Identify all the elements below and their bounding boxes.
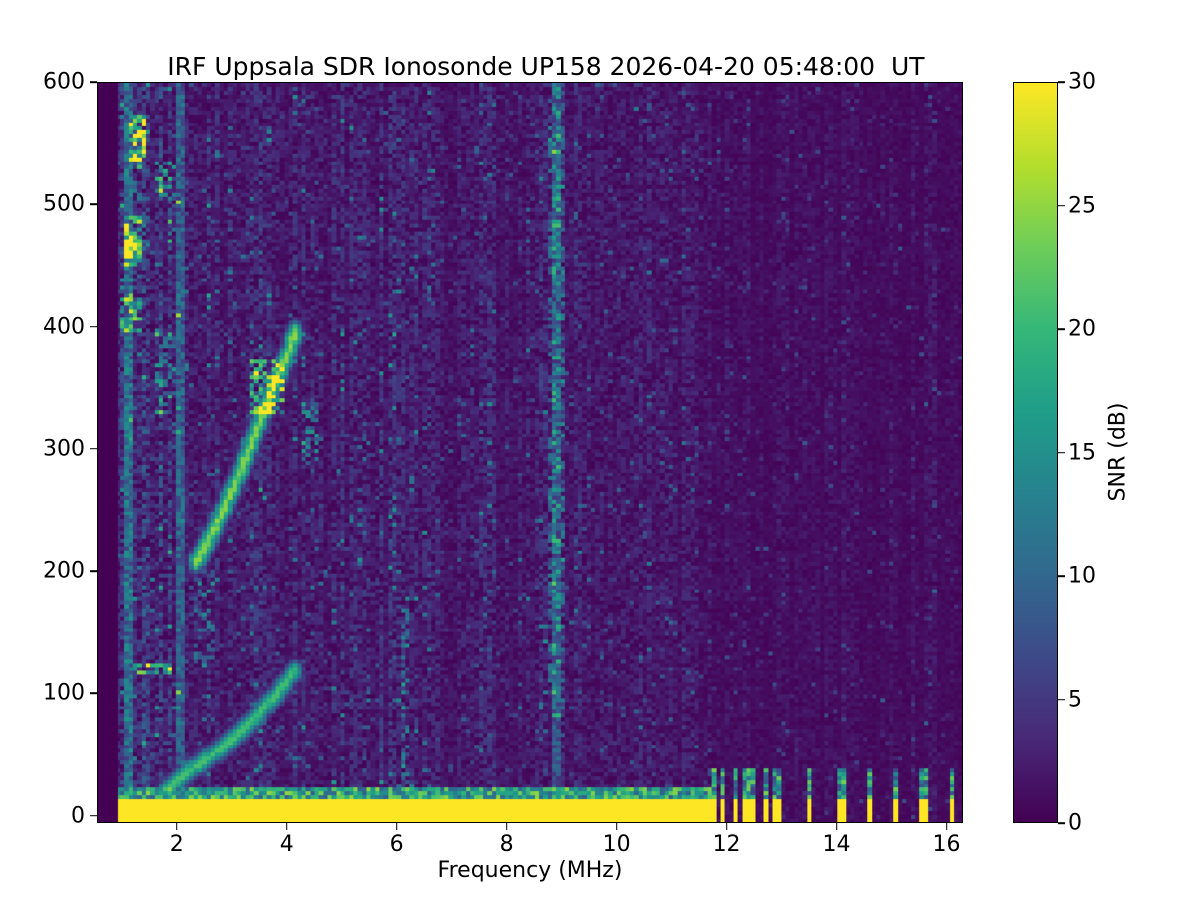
colorbar-tick-label: 5 [1068,687,1082,712]
colorbar-tick-mark [1058,328,1065,330]
y-tick-mark [90,326,97,328]
y-tick-label: 500 [5,192,85,217]
colorbar-gradient [1014,83,1057,822]
colorbar-tick-label: 10 [1068,564,1096,589]
y-tick-label: 200 [5,559,85,584]
y-tick-mark [90,448,97,450]
x-tick-label: 10 [603,832,631,857]
y-tick-mark [90,81,97,83]
x-tick-label: 2 [170,832,184,857]
y-tick-label: 400 [5,314,85,339]
x-tick-label: 8 [500,832,514,857]
colorbar-tick-label: 30 [1068,70,1096,95]
x-tick-label: 12 [713,832,741,857]
x-tick-mark [616,823,618,830]
x-tick-mark [176,823,178,830]
x-tick-mark [836,823,838,830]
x-tick-label: 6 [390,832,404,857]
y-tick-label: 0 [5,803,85,828]
colorbar-tick-mark [1058,452,1065,454]
colorbar-tick-label: 20 [1068,317,1096,342]
colorbar-tick-label: 25 [1068,193,1096,218]
colorbar-tick-mark [1058,205,1065,207]
colorbar-tick-label: 0 [1068,811,1082,836]
colorbar-tick-mark [1058,822,1065,824]
x-tick-mark [946,823,948,830]
y-tick-label: 100 [5,681,85,706]
x-tick-mark [726,823,728,830]
y-tick-mark [90,693,97,695]
x-tick-mark [286,823,288,830]
x-tick-label: 4 [280,832,294,857]
x-axis-title: Frequency (MHz) [438,858,623,883]
colorbar-tick-mark [1058,575,1065,577]
x-tick-mark [396,823,398,830]
x-tick-label: 14 [823,832,851,857]
colorbar-tick-label: 15 [1068,440,1096,465]
colorbar-title: SNR (dB) [1106,403,1131,502]
y-tick-label: 600 [5,70,85,95]
x-tick-mark [506,823,508,830]
y-tick-mark [90,570,97,572]
y-tick-label: 300 [5,436,85,461]
y-tick-mark [90,203,97,205]
ionogram-figure: IRF Uppsala SDR Ionosonde UP158 2026-04-… [0,0,1200,900]
colorbar-tick-mark [1058,699,1065,701]
colorbar-tick-mark [1058,81,1065,83]
x-tick-label: 16 [933,832,961,857]
y-tick-mark [90,815,97,817]
colorbar[interactable] [1013,82,1058,823]
